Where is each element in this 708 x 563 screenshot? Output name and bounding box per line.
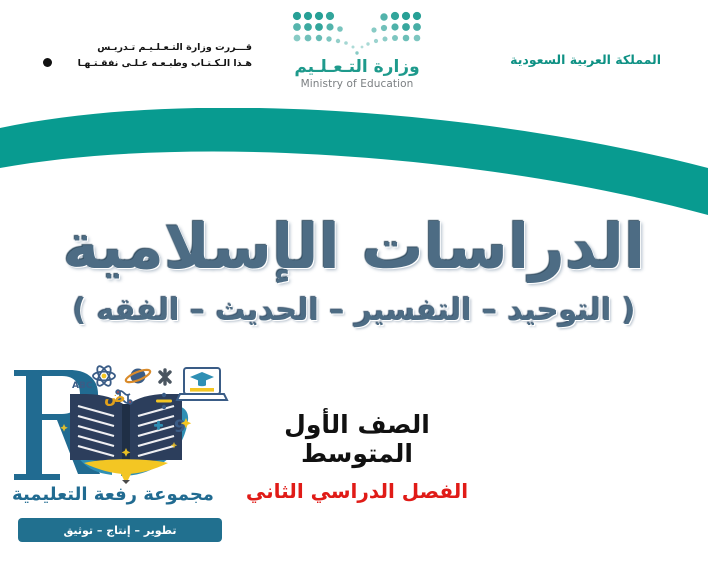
bullet-dot-icon: [43, 58, 52, 67]
atom-icon: [93, 364, 115, 387]
laptop-graduation-cap-icon: [177, 368, 227, 400]
page-subtitle: ( التوحيد – التفسير – الحديث – الفقه ): [0, 293, 708, 328]
publisher-tagline-banner: تطوير – إنتاج – توثيق: [18, 518, 222, 542]
ministry-of-education-logo: وزارة التـعـلـيم Ministry of Education: [277, 8, 437, 104]
page-title: الدراسات الإسلامية: [0, 210, 708, 283]
decision-note-line-1: قـــررت وزارة التـعـلـيـم تـدريـس: [52, 40, 252, 56]
arabic-letter-glyph: ض: [104, 387, 126, 406]
latin-letters-glyph: ABC: [72, 381, 93, 391]
kingdom-label: المملكة العربية السعودية: [510, 52, 661, 67]
ministry-decision-note: قـــررت وزارة التـعـلـيـم تـدريـس هـذا ا…: [52, 40, 252, 72]
decision-note-line-2: هـذا الـكـتـاب وطبـعـه عـلـى نفقـتـهـا: [52, 56, 252, 72]
planet-icon: [124, 367, 151, 384]
publisher-mark-icon: 9 ض ABC: [8, 362, 234, 484]
grade-term-block: الصف الأول المتوسط الفصل الدراسي الثاني: [232, 410, 482, 503]
asterisk-icon: [160, 370, 170, 384]
book-cover-page: قـــررت وزارة التـعـلـيـم تـدريـس هـذا ا…: [0, 0, 708, 563]
grade-level-label: الصف الأول المتوسط: [232, 410, 482, 468]
ministry-name-arabic: وزارة التـعـلـيم: [277, 57, 437, 77]
ministry-dots-emblem-icon: [277, 8, 437, 56]
semester-label: الفصل الدراسي الثاني: [232, 479, 482, 503]
number-nine-glyph: 9: [174, 417, 186, 437]
publisher-name: مجموعة رفعة التعليمية: [0, 484, 226, 505]
ministry-name-english: Ministry of Education: [277, 78, 437, 90]
